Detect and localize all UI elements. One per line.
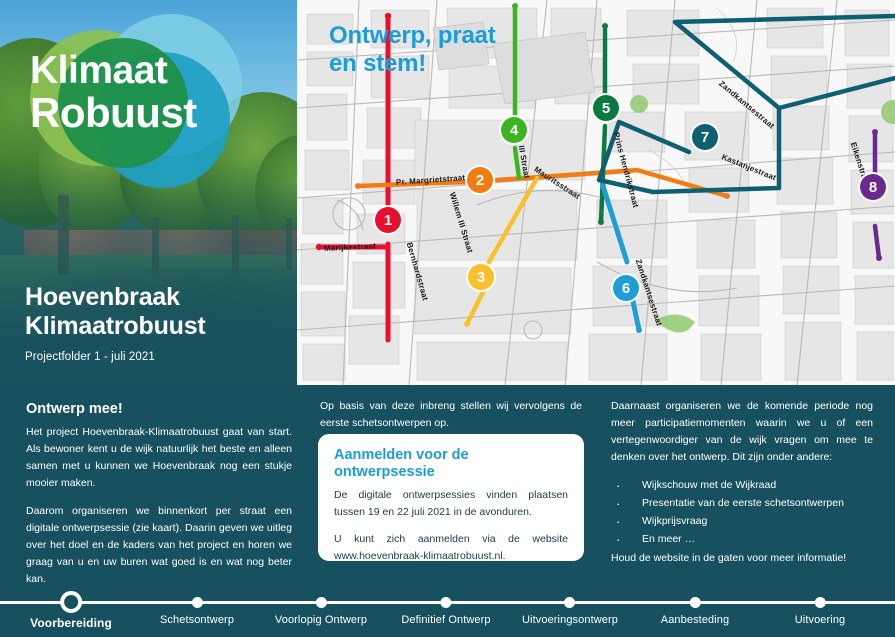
timeline-label: Schetsontwerp bbox=[160, 614, 234, 626]
timeline-label: Uitvoeringsontwerp bbox=[522, 614, 618, 626]
page-title-line1: Hoevenbraak bbox=[25, 283, 290, 312]
map-headline-line1: Ontwerp, praat bbox=[329, 22, 579, 50]
participation-list-item: En meer … bbox=[611, 531, 873, 548]
timeline-step-voorbereiding[interactable]: Voorbereiding bbox=[30, 589, 112, 630]
folder-page: Hoevenbraak Klimaatrobuust Projectfolder… bbox=[0, 0, 895, 637]
timeline-label: Aanbesteding bbox=[661, 614, 729, 626]
timeline-step-uitvoering[interactable]: Uitvoering bbox=[795, 589, 846, 626]
signup-card-heading: Aanmelden voor de ontwerpsessie bbox=[334, 447, 568, 482]
column-middle-paragraph-1: Op basis van deze inbreng stellen wij ve… bbox=[320, 398, 582, 432]
timeline-dot bbox=[60, 591, 82, 613]
timeline-dot bbox=[565, 597, 576, 608]
column-left: Ontwerp mee! Het project Hoevenbraak-Kli… bbox=[26, 398, 292, 599]
timeline-step-aanbesteding[interactable]: Aanbesteding bbox=[661, 589, 729, 626]
neighbourhood-map[interactable]: Ontwerp, praat en stem! bbox=[297, 0, 895, 385]
logo-wordmark: Klimaat Robuust bbox=[30, 52, 250, 133]
map-marker-1[interactable]: 1 bbox=[375, 207, 401, 233]
column-right: Daarnaast organiseren we de komende peri… bbox=[611, 398, 873, 578]
timeline-label: Definitief Ontwerp bbox=[401, 614, 490, 626]
signup-card-body: De digitale ontwerpsessies vinden plaats… bbox=[334, 487, 568, 565]
timeline-step-definitief-ontwerp[interactable]: Definitief Ontwerp bbox=[401, 589, 490, 626]
top-band: Hoevenbraak Klimaatrobuust Projectfolder… bbox=[0, 0, 895, 385]
map-marker-3[interactable]: 3 bbox=[468, 264, 494, 290]
timeline-step-schetsontwerp[interactable]: Schetsontwerp bbox=[160, 589, 234, 626]
column-left-heading: Ontwerp mee! bbox=[26, 398, 292, 421]
timeline-dot bbox=[192, 597, 203, 608]
map-headline: Ontwerp, praat en stem! bbox=[329, 22, 579, 79]
page-subtitle: Projectfolder 1 - juli 2021 bbox=[25, 351, 290, 363]
timeline-label: Uitvoering bbox=[795, 614, 846, 626]
column-left-paragraph-1: Het project Hoevenbraak-Klimaatrobuust g… bbox=[26, 424, 292, 492]
logo-line-2: Robuust bbox=[30, 92, 250, 133]
participation-list-item: Wijkschouw met de Wijkraad bbox=[611, 477, 873, 494]
signup-card[interactable]: Aanmelden voor de ontwerpsessie De digit… bbox=[318, 434, 584, 561]
cover-title-block: Hoevenbraak Klimaatrobuust Projectfolder… bbox=[25, 283, 290, 363]
page-title-line2: Klimaatrobuust bbox=[25, 312, 290, 341]
signup-card-paragraph-2: U kunt zich aanmelden via de website www… bbox=[334, 531, 568, 565]
signup-card-paragraph-1: De digitale ontwerpsessies vinden plaats… bbox=[334, 487, 568, 521]
map-marker-8[interactable]: 8 bbox=[860, 174, 886, 200]
participation-list-item: Presentatie van de eerste schetsontwerpe… bbox=[611, 495, 873, 512]
timeline-dot bbox=[315, 597, 326, 608]
timeline-dot bbox=[440, 597, 451, 608]
timeline-step-uitvoeringsontwerp[interactable]: Uitvoeringsontwerp bbox=[522, 589, 618, 626]
map-marker-5[interactable]: 5 bbox=[593, 95, 619, 121]
map-marker-7[interactable]: 7 bbox=[692, 124, 718, 150]
participation-list-item: Wijkprijsvraag bbox=[611, 513, 873, 530]
participation-list: Wijkschouw met de WijkraadPresentatie va… bbox=[611, 477, 873, 548]
signup-card-heading-line1: Aanmelden voor de bbox=[334, 447, 568, 464]
map-marker-2[interactable]: 2 bbox=[467, 167, 493, 193]
logo-line-1: Klimaat bbox=[30, 52, 250, 90]
map-marker-4[interactable]: 4 bbox=[501, 117, 527, 143]
project-timeline: VoorbereidingSchetsontwerpVoorlopig Ontw… bbox=[0, 589, 895, 637]
map-marker-6[interactable]: 6 bbox=[613, 275, 639, 301]
column-right-paragraph-1: Daarnaast organiseren we de komende peri… bbox=[611, 398, 873, 466]
column-left-paragraph-2: Daarom organiseren we binnenkort per str… bbox=[26, 503, 292, 588]
timeline-label: Voorlopig Ontwerp bbox=[275, 614, 367, 626]
signup-card-heading-line2: ontwerpsessie bbox=[334, 464, 568, 481]
timeline-label: Voorbereiding bbox=[30, 616, 112, 630]
column-right-closing: Houd de website in de gaten voor meer in… bbox=[611, 550, 873, 567]
timeline-dot bbox=[689, 597, 700, 608]
map-headline-line2: en stem! bbox=[329, 50, 579, 78]
timeline-step-voorlopig-ontwerp[interactable]: Voorlopig Ontwerp bbox=[275, 589, 367, 626]
klimaat-robuust-logo: Klimaat Robuust bbox=[22, 6, 244, 194]
timeline-dot bbox=[815, 597, 826, 608]
